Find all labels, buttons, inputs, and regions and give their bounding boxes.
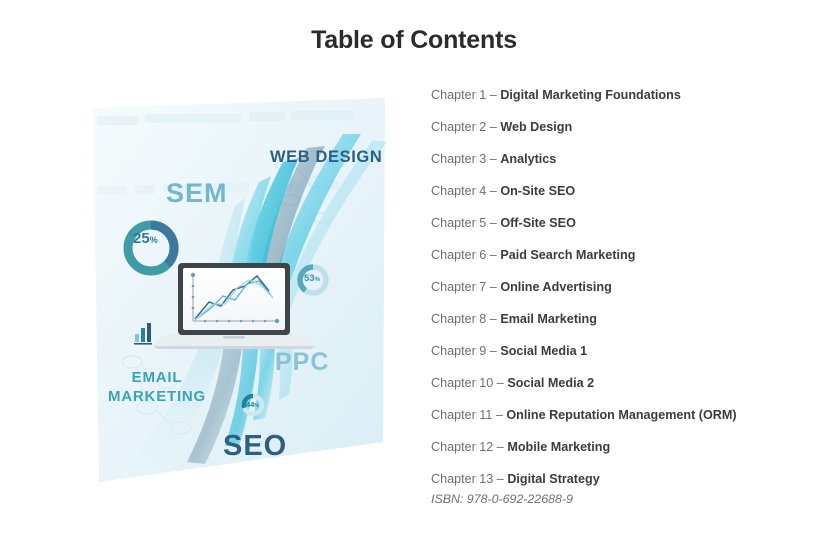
- toc-entry-title: Email Marketing: [500, 312, 597, 326]
- toc-entry[interactable]: Chapter 1 – Digital Marketing Foundation…: [431, 79, 801, 111]
- toc-entry-chapter: Chapter 10 –: [431, 376, 504, 390]
- toc-entry-title: Social Media 1: [500, 344, 587, 358]
- label-email-marketing: EMAIL MARKETING: [108, 368, 206, 406]
- toc-entry-title: Analytics: [500, 152, 556, 166]
- donut-25-number: 25: [133, 230, 150, 247]
- toc-entry-chapter: Chapter 11 –: [431, 408, 503, 422]
- toc-entry[interactable]: Chapter 3 – Analytics: [431, 143, 801, 175]
- toc-entry[interactable]: Chapter 5 – Off-Site SEO: [431, 207, 801, 239]
- toc-entry[interactable]: Chapter 8 – Email Marketing: [431, 303, 801, 335]
- toc-entry[interactable]: Chapter 13 – Digital Strategy: [431, 463, 801, 495]
- toc-entry-chapter: Chapter 3 –: [431, 152, 497, 166]
- digital-marketing-illustration: WEB DESIGN SEM PPC SEO EMAIL MARKETING 2…: [85, 90, 390, 490]
- toc-entry[interactable]: Chapter 11 – Online Reputation Managemen…: [431, 399, 801, 431]
- label-web-design: WEB DESIGN: [270, 148, 382, 167]
- label-seo: SEO: [223, 430, 287, 463]
- label-email-line1: EMAIL: [108, 368, 206, 387]
- toc-entry-chapter: Chapter 7 –: [431, 280, 497, 294]
- toc-entry-title: Digital Marketing Foundations: [500, 88, 681, 102]
- donut-53-value: 53%: [304, 273, 320, 284]
- toc-entry-title: Mobile Marketing: [507, 440, 610, 454]
- toc-entry-chapter: Chapter 6 –: [431, 248, 497, 262]
- toc-entry-chapter: Chapter 2 –: [431, 120, 497, 134]
- toc-entry-chapter: Chapter 12 –: [431, 440, 504, 454]
- donut-25-unit: %: [150, 235, 158, 245]
- label-sem: SEM: [166, 178, 228, 209]
- toc-entry-chapter: Chapter 9 –: [431, 344, 497, 358]
- toc-entry-title: Paid Search Marketing: [500, 248, 635, 262]
- donut-44-value: 44%: [246, 400, 259, 409]
- toc-entry[interactable]: Chapter 12 – Mobile Marketing: [431, 431, 801, 463]
- toc-entry-title: Digital Strategy: [507, 472, 599, 486]
- donut-25-value: 25%: [133, 230, 158, 247]
- page-title: Table of Contents: [0, 26, 828, 55]
- toc-entry[interactable]: Chapter 4 – On-Site SEO: [431, 175, 801, 207]
- toc-entry-title: Off-Site SEO: [500, 216, 576, 230]
- toc-entry-title: Online Advertising: [500, 280, 612, 294]
- toc-entry-chapter: Chapter 8 –: [431, 312, 497, 326]
- toc-entry-chapter: Chapter 13 –: [431, 472, 504, 486]
- isbn-line: ISBN: 978-0-692-22688-9: [431, 492, 573, 506]
- toc-entry-title: On-Site SEO: [500, 184, 575, 198]
- donut-44-unit: %: [254, 403, 258, 409]
- toc-entry-chapter: Chapter 1 –: [431, 88, 497, 102]
- toc-entry[interactable]: Chapter 10 – Social Media 2: [431, 367, 801, 399]
- donut-53-unit: %: [315, 277, 320, 283]
- toc-entry-chapter: Chapter 5 –: [431, 216, 497, 230]
- toc-entry-title: Web Design: [500, 120, 572, 134]
- toc-entry-title: Social Media 2: [507, 376, 594, 390]
- toc-entry[interactable]: Chapter 6 – Paid Search Marketing: [431, 239, 801, 271]
- toc-entry-title: Online Reputation Management (ORM): [506, 408, 736, 422]
- page-root: Table of Contents: [0, 0, 828, 547]
- table-of-contents-list: Chapter 1 – Digital Marketing Foundation…: [431, 79, 801, 495]
- toc-entry[interactable]: Chapter 9 – Social Media 1: [431, 335, 801, 367]
- toc-entry-chapter: Chapter 4 –: [431, 184, 497, 198]
- toc-entry[interactable]: Chapter 2 – Web Design: [431, 111, 801, 143]
- donut-53-number: 53: [304, 273, 315, 284]
- label-email-line2: MARKETING: [108, 387, 206, 406]
- label-ppc: PPC: [275, 348, 329, 377]
- toc-entry[interactable]: Chapter 7 – Online Advertising: [431, 271, 801, 303]
